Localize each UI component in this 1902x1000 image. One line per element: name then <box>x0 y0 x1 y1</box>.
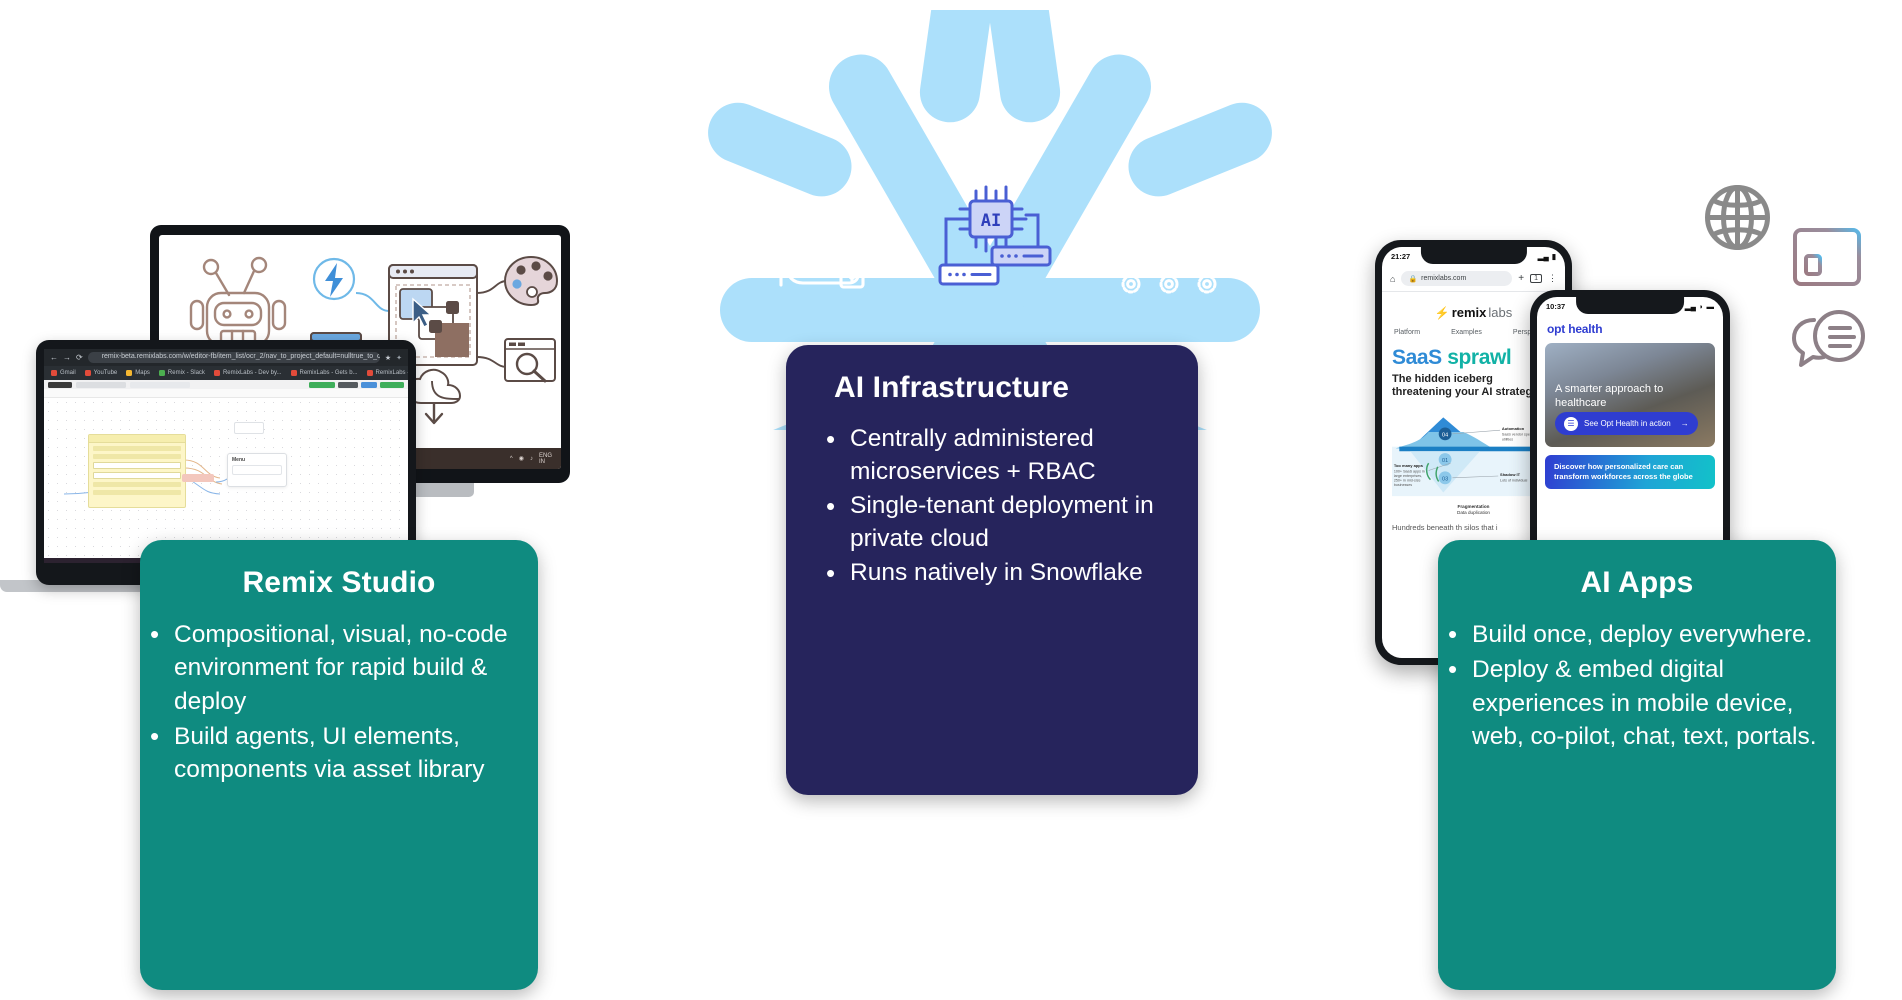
card-ai-infrastructure-bullets: Centrally administered microservices + R… <box>786 423 1198 590</box>
network-icon[interactable]: ◉ <box>519 455 524 462</box>
list-item: Compositional, visual, no-code environme… <box>174 618 538 718</box>
arrow-right-icon: → <box>1681 419 1689 428</box>
app-subtoolbar <box>44 389 408 398</box>
bolt-icon: ⚡ <box>1435 306 1450 320</box>
browser-card-icon <box>1792 227 1862 287</box>
svg-text:utilities: utilities <box>1502 437 1513 441</box>
headline-part-a: SaaS <box>1392 346 1442 369</box>
card-ai-apps[interactable]: AI Apps Build once, deploy everywhere. D… <box>1438 540 1836 990</box>
chat-bubbles-icon <box>1792 308 1868 370</box>
language-indicator[interactable]: ENGIN <box>539 453 552 465</box>
flow-node-menu-search[interactable] <box>232 465 282 475</box>
phone2-hero-headline: A smarter approach to healthcare <box>1555 383 1715 411</box>
search-window-icon <box>505 339 555 381</box>
headline-part-b: sprawl <box>1447 346 1511 369</box>
tab-count-badge[interactable]: 1 <box>1530 274 1542 283</box>
phone1-url: remixlabs.com <box>1421 275 1466 282</box>
user-cloud-lock-icon <box>775 205 885 297</box>
bookmark-star-icon[interactable]: ★ <box>385 354 391 362</box>
flow-node-row <box>93 490 181 495</box>
forward-icon[interactable]: → <box>63 353 71 362</box>
card-ai-infrastructure[interactable]: AI Infrastructure Centrally administered… <box>786 345 1198 795</box>
bookmark-item[interactable]: YouTube <box>85 370 118 376</box>
overflow-menu-icon[interactable]: ⋮ <box>1548 273 1557 284</box>
list-item: Deploy & embed digital experiences in mo… <box>1472 653 1836 753</box>
list-item: Build once, deploy everywhere. <box>1472 618 1836 651</box>
globe-icon <box>1700 180 1775 255</box>
flow-node-row <box>93 472 181 479</box>
flow-node-menu[interactable]: Menu <box>227 453 287 487</box>
ai-chip-server-icon: AI <box>938 185 1058 295</box>
home-icon[interactable]: ⌂ <box>1390 274 1395 284</box>
app-logo <box>48 382 72 388</box>
signal-icon: ▂▄ <box>1538 252 1549 261</box>
preview-button[interactable] <box>338 382 358 388</box>
iceberg-label-automation: Automation <box>1502 426 1525 431</box>
flow-node-row <box>93 462 181 469</box>
iceberg-label-shadow-it: Shadow IT <box>1500 472 1521 477</box>
card-remix-studio-bullets: Compositional, visual, no-code environme… <box>140 618 538 787</box>
card-ai-apps-title: AI Apps <box>1438 540 1836 618</box>
flow-node-form[interactable] <box>88 434 186 508</box>
lock-icon: 🔒 <box>1408 275 1417 283</box>
svg-text:large enterprises,: large enterprises, <box>1394 474 1422 478</box>
flow-node-header <box>89 435 185 443</box>
phone1-statusbar: 21:27 ▂▄ ▮ <box>1382 247 1565 266</box>
phone1-status-icons: ▂▄ ▮ <box>1538 252 1556 261</box>
app-toolbar <box>44 380 408 389</box>
iceberg-num-01: 01 <box>1442 458 1448 464</box>
bookmark-item[interactable]: RemixLabs - Dev by... <box>214 370 282 376</box>
breadcrumb <box>76 382 126 388</box>
flow-node-row <box>93 482 181 487</box>
bookmark-label: Maps <box>135 370 150 376</box>
list-item: Centrally administered microservices + R… <box>850 423 1174 488</box>
card-remix-studio-title: Remix Studio <box>140 540 538 618</box>
iceberg-num-04: 04 <box>1442 432 1448 438</box>
svg-text:businesses: businesses <box>1394 483 1412 487</box>
bookmark-label: RemixLabs - Dev by... <box>223 370 282 376</box>
chevron-up-icon[interactable]: ^ <box>510 456 513 462</box>
play-list-icon: ☰ <box>1564 417 1578 431</box>
bookmark-item[interactable]: RemixLabs - Gets b... <box>291 370 358 376</box>
bookmark-item[interactable]: Remix - Slack <box>159 370 205 376</box>
phone2-band: Discover how personalized care can trans… <box>1545 455 1715 489</box>
flow-chip[interactable] <box>182 474 214 482</box>
phone2-cta-label: See Opt Health in action <box>1584 419 1671 428</box>
bookmark-label: YouTube <box>94 370 118 376</box>
opthealth-logo: opt health <box>1537 316 1723 343</box>
taskbar-system-tray: ^ ◉ ♪ ENGIN <box>510 453 552 465</box>
publish-button[interactable] <box>380 382 404 388</box>
palette-icon <box>505 257 557 305</box>
wifi-icon: ◗ <box>1699 302 1704 311</box>
flow-node-small[interactable] <box>234 422 264 434</box>
svg-text:100+ SaaS apps in: 100+ SaaS apps in <box>1394 469 1425 473</box>
phone2-statusbar: 10:37 ▂▄ ◗ ▬ <box>1537 297 1723 316</box>
phone2-cta-button[interactable]: ☰ See Opt Health in action → <box>1555 412 1698 435</box>
card-remix-studio[interactable]: Remix Studio Compositional, visual, no-c… <box>140 540 538 990</box>
bookmark-item[interactable]: RemixLabs - India b... <box>367 370 408 376</box>
svg-text:250+ in mid-size: 250+ in mid-size <box>1394 478 1421 482</box>
list-item: Single-tenant deployment in private clou… <box>850 490 1174 555</box>
browser-toolbar: ← → ⟳ remix-beta.remixlabs.com/w/editor-… <box>44 349 408 366</box>
brand-light: labs <box>1488 305 1512 320</box>
card-ai-infrastructure-title: AI Infrastructure <box>786 345 1198 423</box>
card-ai-apps-bullets: Build once, deploy everywhere. Deploy & … <box>1438 618 1836 753</box>
gear-hierarchy-icon <box>1115 200 1225 295</box>
phone1-address-bar[interactable]: 🔒 remixlabs.com <box>1401 271 1512 286</box>
save-draft-button[interactable] <box>309 382 335 388</box>
battery-icon: ▮ <box>1552 252 1556 261</box>
flow-node-row <box>93 454 181 459</box>
iceberg-num-03: 03 <box>1442 476 1448 482</box>
bookmark-label: RemixLabs - India b... <box>376 370 408 376</box>
nav-item-platform[interactable]: Platform <box>1394 329 1420 336</box>
iceberg-label-too-many-apps: Too many apps <box>1394 463 1424 468</box>
bookmark-item[interactable]: Gmail <box>51 370 76 376</box>
address-bar[interactable]: remix-beta.remixlabs.com/w/editor-fb/ite… <box>88 352 380 363</box>
address-bar-url: remix-beta.remixlabs.com/w/editor-fb/ite… <box>102 353 380 360</box>
phone1-omnibox-row: ⌂ 🔒 remixlabs.com + 1 ⋮ <box>1382 266 1565 291</box>
phone2-time: 10:37 <box>1546 302 1565 311</box>
nav-item-examples[interactable]: Examples <box>1451 329 1482 336</box>
phone2-status-icons: ▂▄ ◗ ▬ <box>1685 302 1714 311</box>
brand-bold: remix <box>1452 305 1487 320</box>
diagram-canvas: ^ ◉ ♪ ENGIN ← → ⟳ remix-beta.remixlabs.c… <box>0 0 1902 1000</box>
laptop-screen: ← → ⟳ remix-beta.remixlabs.com/w/editor-… <box>44 349 408 563</box>
flow-canvas[interactable]: Menu <box>44 398 408 558</box>
ai-chip-label: AI <box>981 211 1001 231</box>
phone2-hero: A smarter approach to healthcare ☰ See O… <box>1545 343 1715 447</box>
lightning-bolt-icon <box>314 259 354 299</box>
reload-icon[interactable]: ⟳ <box>76 353 83 362</box>
svg-text:Lots of individual: Lots of individual <box>1500 478 1527 482</box>
bookmark-label: RemixLabs - Gets b... <box>300 370 358 376</box>
volume-icon[interactable]: ♪ <box>530 456 533 462</box>
bookmarks-bar: Gmail YouTube Maps Remix - Slack RemixLa… <box>44 366 408 380</box>
cellular-icon: ▂▄ <box>1685 302 1696 311</box>
flow-node-menu-label: Menu <box>228 454 286 463</box>
battery-icon: ▬ <box>1707 302 1715 311</box>
back-icon[interactable]: ← <box>50 353 58 362</box>
new-tab-icon[interactable]: + <box>1518 273 1524 284</box>
breadcrumb-current <box>130 382 190 388</box>
extensions-icon[interactable]: ✦ <box>396 354 402 362</box>
flow-node-row <box>93 446 181 451</box>
bookmark-label: Gmail <box>60 370 76 376</box>
list-item: Runs natively in Snowflake <box>850 557 1174 590</box>
list-item: Build agents, UI elements, components vi… <box>174 720 538 787</box>
bookmark-label: Remix - Slack <box>168 370 205 376</box>
test-button[interactable] <box>361 382 377 388</box>
bookmark-item[interactable]: Maps <box>126 370 150 376</box>
phone1-time: 21:27 <box>1391 252 1410 261</box>
